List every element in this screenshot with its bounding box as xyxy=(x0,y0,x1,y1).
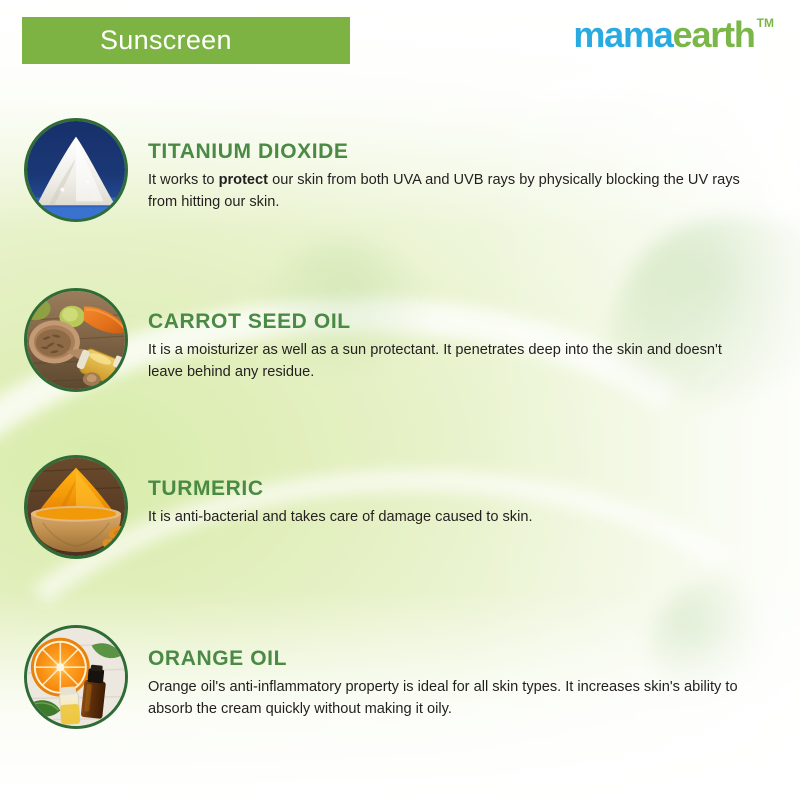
orange-oil-image xyxy=(27,628,125,726)
ingredient-text-block: TURMERIC It is anti-bacterial and takes … xyxy=(148,455,768,529)
turmeric-photo xyxy=(24,455,128,559)
brand-logo-earth: earth xyxy=(673,14,755,56)
ingredient-description: Orange oil's anti-inflammatory property … xyxy=(148,677,756,720)
trademark-icon: TM xyxy=(757,16,774,30)
ingredient-list: TITANIUM DIOXIDE It works to protect our… xyxy=(0,0,800,800)
description-part-1: Orange oil's anti-inflammatory property … xyxy=(148,679,738,717)
brand-logo-mama: mama xyxy=(573,14,672,56)
ingredient-description: It works to protect our skin from both U… xyxy=(148,170,756,213)
description-part-1: It is a moisturizer as well as a sun pro… xyxy=(148,342,722,380)
ingredient-item: TITANIUM DIOXIDE It works to protect our… xyxy=(0,118,800,222)
turmeric-image xyxy=(27,458,125,556)
carrot-seed-oil-photo xyxy=(24,288,128,392)
brand-logo: mamaearthTM xyxy=(573,14,774,56)
ingredient-title: TURMERIC xyxy=(148,477,768,500)
ingredient-item: ORANGE OIL Orange oil's anti-inflammator… xyxy=(0,625,800,729)
ingredient-text-block: ORANGE OIL Orange oil's anti-inflammator… xyxy=(148,625,768,720)
ingredient-item: TURMERIC It is anti-bacterial and takes … xyxy=(0,455,800,559)
ingredient-text-block: CARROT SEED OIL It is a moisturizer as w… xyxy=(148,288,768,383)
description-part-1: It works to xyxy=(148,172,219,188)
carrot-seed-oil-image xyxy=(27,291,125,389)
ingredient-text-block: TITANIUM DIOXIDE It works to protect our… xyxy=(148,118,768,213)
titanium-dioxide-photo xyxy=(24,118,128,222)
page-title: Sunscreen xyxy=(22,25,232,56)
ingredient-title: CARROT SEED OIL xyxy=(148,310,768,333)
ingredient-description: It is anti-bacterial and takes care of d… xyxy=(148,507,756,529)
header: Sunscreen mamaearthTM xyxy=(0,0,800,95)
orange-oil-photo xyxy=(24,625,128,729)
ingredient-title: TITANIUM DIOXIDE xyxy=(148,140,768,163)
titanium-dioxide-image xyxy=(27,121,125,219)
ingredient-title: ORANGE OIL xyxy=(148,647,768,670)
description-emphasis: protect xyxy=(219,172,268,188)
ingredient-item: CARROT SEED OIL It is a moisturizer as w… xyxy=(0,288,800,392)
page-title-banner: Sunscreen xyxy=(22,17,350,64)
description-part-1: It is anti-bacterial and takes care of d… xyxy=(148,509,533,525)
ingredient-description: It is a moisturizer as well as a sun pro… xyxy=(148,340,756,383)
